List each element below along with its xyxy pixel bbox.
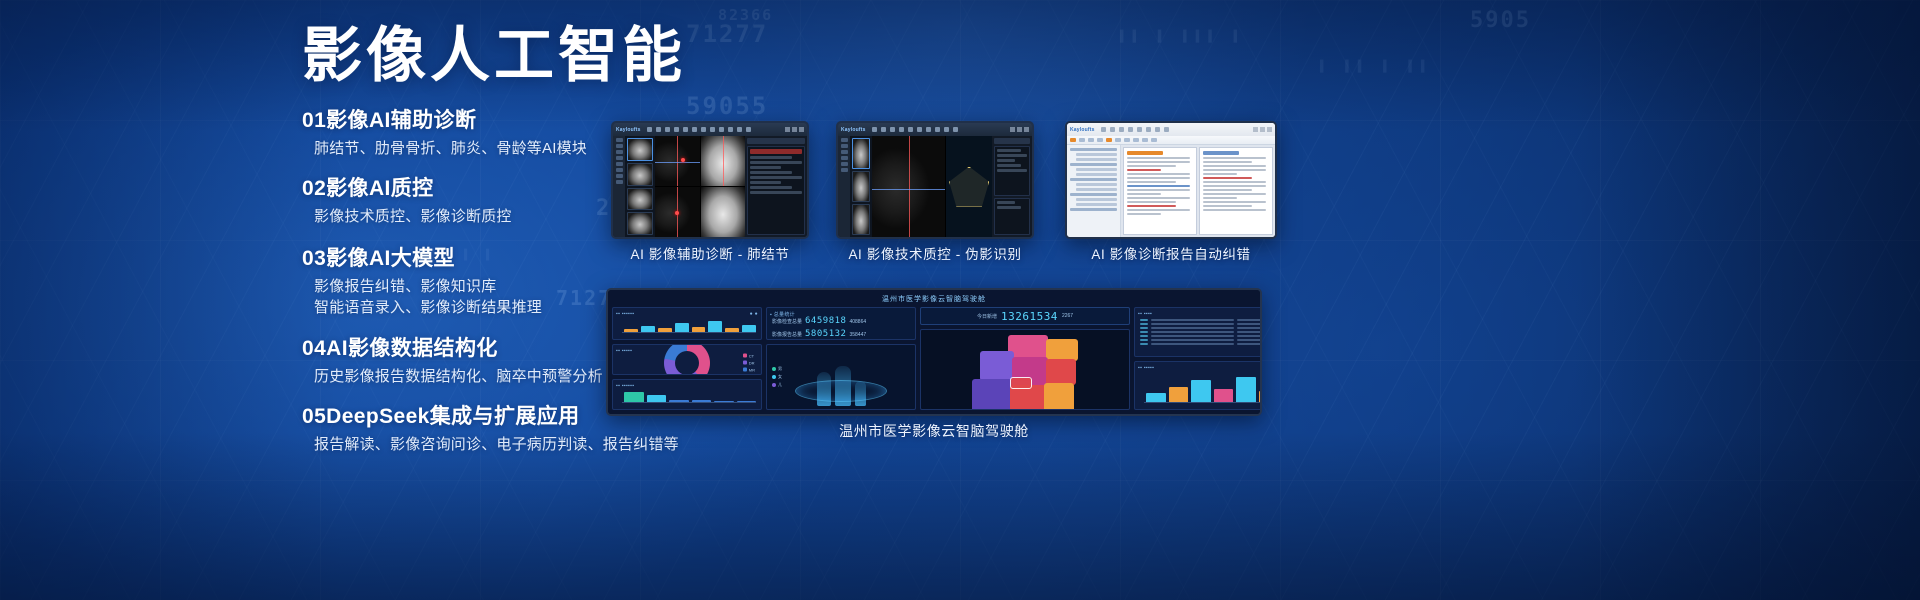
report-heading [1203, 151, 1239, 155]
viewer-body [838, 136, 1032, 237]
screenshot-report-correction[interactable]: Kayloufts [1065, 121, 1277, 239]
tree-node[interactable] [1076, 158, 1117, 161]
ct-image-axial[interactable] [655, 136, 700, 186]
window-controls[interactable] [1010, 127, 1029, 132]
card-ranking-table[interactable]: ▪▪ ▪▪▪▪ [1134, 307, 1262, 357]
kpi-delta: 408864 [849, 319, 866, 325]
legend-item: 儿 [772, 382, 782, 388]
qc-row[interactable] [997, 159, 1015, 162]
card-human-visualization[interactable]: 男 女 儿 [766, 344, 916, 410]
card-modality-donut[interactable]: ▪▪ ▪▪▪▪▪ CT DR MR [612, 344, 762, 375]
report-sidebar-tree[interactable] [1067, 145, 1121, 237]
bar [1146, 393, 1166, 402]
report-line [1203, 189, 1252, 191]
kpi-value: 6459818 [805, 316, 846, 326]
screenshot-caption: AI 影像诊断报告自动纠错 [1065, 243, 1277, 263]
table-row[interactable] [1140, 319, 1262, 321]
window-titlebar: Kayloufts [838, 123, 1032, 136]
report-line [1203, 209, 1266, 211]
ct-image-artifact[interactable] [872, 136, 945, 237]
tree-node[interactable] [1076, 183, 1117, 186]
tree-node[interactable] [1070, 193, 1117, 196]
image-viewport-grid[interactable] [655, 136, 745, 237]
tree-node[interactable] [1076, 168, 1117, 171]
screenshot-caption: AI 影像辅助诊断 - 肺结节 [611, 243, 809, 263]
report-heading [1127, 151, 1163, 155]
report-line [1203, 193, 1266, 195]
report-line [1203, 181, 1266, 183]
ct-image-sagittal[interactable] [701, 187, 746, 237]
kpi-label: 影像报告总量 [772, 331, 802, 338]
findings-row[interactable] [750, 161, 802, 164]
tree-node[interactable] [1076, 188, 1117, 191]
report-documents [1121, 145, 1275, 237]
legend-item: DR [743, 360, 755, 365]
screenshot-caption: 温州市医学影像云智脑驾驶舱 [606, 421, 1262, 441]
report-line [1203, 165, 1266, 167]
kpi-label: 影像检查总量 [772, 318, 802, 325]
report-line [1127, 197, 1190, 199]
toolbar-button[interactable] [1133, 138, 1139, 142]
findings-row[interactable] [750, 176, 802, 179]
card-region-map[interactable] [920, 329, 1130, 410]
bar-chart [1146, 373, 1262, 403]
report-line [1127, 165, 1176, 167]
report-line [1127, 177, 1190, 179]
window-titlebar: Kayloufts [1067, 123, 1275, 136]
kpi-label: 今日新增 [977, 313, 997, 320]
report-line [1127, 213, 1161, 215]
app-window: Kayloufts [1065, 121, 1277, 239]
toolbar-button[interactable] [1070, 138, 1076, 142]
card-body: 影像检查总量 6459818 408864 影像报告总量 5805132 358… [770, 318, 912, 336]
legend-item: CT [743, 353, 755, 358]
dashboard-title: 温州市医学影像云智脑驾驶舱 [612, 294, 1256, 304]
qc-result-panel[interactable] [992, 136, 1032, 237]
card-body [616, 317, 758, 336]
card-body [1138, 371, 1262, 407]
tool-rail[interactable] [838, 136, 850, 237]
map-region[interactable] [1046, 339, 1078, 361]
radar-chart [949, 167, 989, 207]
ct-image-coronal[interactable] [701, 136, 746, 186]
findings-row[interactable] [750, 166, 781, 169]
window-titlebar: Kayloufts [613, 123, 807, 136]
data-table[interactable] [1140, 319, 1262, 351]
card-body [1138, 317, 1262, 353]
map-region[interactable] [1046, 359, 1076, 385]
report-line [1127, 209, 1190, 211]
series-thumbnail[interactable] [852, 171, 870, 202]
crosshair-horizontal [655, 162, 700, 163]
legend-item: MR [743, 367, 755, 372]
legend-item: 女 [772, 374, 782, 380]
tree-node[interactable] [1070, 148, 1117, 151]
report-line-error [1203, 177, 1252, 179]
table-row[interactable] [1140, 331, 1262, 333]
toolbar-button[interactable] [1115, 138, 1121, 142]
card-kpi-totals[interactable]: ▪ 总量统计 影像检查总量 6459818 408864 影像报告总量 [766, 307, 916, 340]
report-line [1203, 157, 1266, 159]
bar [1169, 387, 1189, 402]
report-corrected[interactable] [1199, 147, 1273, 235]
findings-row[interactable] [750, 186, 792, 189]
map-region[interactable] [972, 379, 1012, 410]
qc-row[interactable] [997, 169, 1027, 172]
dashboard-column-3: 今日新增 13261534 2267 [920, 307, 1130, 410]
qc-analysis-view[interactable] [946, 136, 992, 237]
series-thumbnail[interactable] [852, 138, 870, 169]
bar [1259, 391, 1263, 402]
app-window: Kayloufts [611, 121, 809, 239]
toolbar-button[interactable] [1097, 138, 1103, 142]
findings-row[interactable] [750, 191, 802, 194]
table-row[interactable] [1140, 335, 1262, 337]
findings-row[interactable] [750, 156, 792, 159]
screenshot-dashboard[interactable]: 温州市医学影像云智脑驾驶舱 ▪▪ ▪▪▪▪▪▪● ● [606, 288, 1262, 416]
card-kpi-today[interactable]: 今日新增 13261534 2267 [920, 307, 1130, 325]
app-window: Kayloufts [836, 121, 1034, 239]
dashboard-grid: ▪▪ ▪▪▪▪▪▪● ● [612, 307, 1256, 410]
ct-image-lung-window[interactable] [655, 187, 700, 237]
menu-icons[interactable] [872, 127, 1010, 132]
series-thumbnail[interactable] [627, 163, 653, 186]
viewer-body [613, 136, 807, 237]
dashboard-column-1: ▪▪ ▪▪▪▪▪▪● ● [612, 307, 762, 410]
qc-result-list[interactable] [994, 146, 1030, 196]
tree-node[interactable] [1076, 173, 1117, 176]
report-line [1127, 173, 1190, 175]
bar [742, 325, 756, 332]
report-line [1127, 193, 1161, 195]
report-line-error [1127, 169, 1161, 171]
bar [647, 395, 667, 402]
series-thumbnail[interactable] [627, 212, 653, 235]
report-line [1203, 185, 1266, 187]
card-exam-trend[interactable]: ▪▪ ▪▪▪▪▪▪● ● [612, 307, 762, 340]
card-body: CT DR MR [616, 354, 758, 371]
dashboard-column-4: ▪▪ ▪▪▪▪ [1134, 307, 1262, 410]
dashboard: 温州市医学影像云智脑驾驶舱 ▪▪ ▪▪▪▪▪▪● ● [608, 290, 1260, 414]
app-logo: Kayloufts [616, 127, 641, 133]
chart-axis [1144, 402, 1262, 403]
qc-row[interactable] [997, 149, 1021, 152]
report-line [1127, 157, 1190, 159]
panel-header [994, 138, 1030, 144]
qc-row[interactable] [997, 206, 1021, 209]
card-dept-bars[interactable]: ▪▪ ▪▪▪▪▪▪ [612, 379, 762, 410]
report-line [1203, 173, 1237, 175]
series-thumbnail[interactable] [627, 138, 653, 161]
findings-row-highlight[interactable] [750, 149, 802, 154]
table-row[interactable] [1140, 327, 1262, 329]
chart-axis [622, 402, 756, 403]
map-region[interactable] [980, 351, 1014, 381]
table-row[interactable] [1140, 323, 1262, 325]
panel-header [747, 138, 805, 144]
nodule-marker [681, 158, 685, 162]
findings-list[interactable] [747, 146, 805, 235]
report-line [1127, 201, 1176, 203]
table-row[interactable] [1140, 343, 1262, 345]
report-line-error [1127, 205, 1176, 207]
report-line [1127, 161, 1190, 163]
series-thumbnail-list[interactable] [850, 136, 872, 237]
qc-row[interactable] [997, 201, 1015, 204]
card-mixed-chart[interactable]: ▪▪ ▪▪▪▪▪ [1134, 361, 1262, 411]
findings-panel[interactable] [745, 136, 807, 237]
tree-node[interactable] [1076, 153, 1117, 156]
report-line [1203, 197, 1237, 199]
nodule-marker [675, 211, 679, 215]
series-thumbnail[interactable] [852, 204, 870, 235]
screenshot-ai-qc[interactable]: Kayloufts [836, 121, 1034, 239]
findings-row[interactable] [750, 181, 781, 184]
glow-ring [795, 380, 887, 402]
image-viewport-grid[interactable] [872, 136, 992, 237]
report-line [1127, 189, 1190, 191]
card-body: 男 女 儿 [770, 348, 912, 406]
findings-row[interactable] [750, 171, 792, 174]
window-controls[interactable] [785, 127, 804, 132]
window-controls[interactable] [1253, 127, 1272, 132]
qc-row[interactable] [997, 154, 1027, 157]
bar [1236, 377, 1256, 402]
dashboard-column-2: ▪ 总量统计 影像检查总量 6459818 408864 影像报告总量 [766, 307, 916, 410]
report-body [1067, 145, 1275, 237]
screenshot-caption: AI 影像技术质控 - 伪影识别 [836, 243, 1034, 263]
bar-chart [624, 391, 756, 402]
menu-icons[interactable] [1101, 127, 1253, 132]
bar [1214, 389, 1234, 402]
donut-chart [664, 344, 710, 375]
bar [624, 392, 644, 402]
app-logo: Kayloufts [841, 127, 866, 133]
crosshair-vertical [723, 136, 724, 186]
kpi-delta: 2267 [1062, 313, 1073, 319]
toolbar-button[interactable] [1088, 138, 1094, 142]
report-original[interactable] [1123, 147, 1197, 235]
human-legend: 男 女 儿 [772, 366, 782, 388]
tree-node[interactable] [1070, 208, 1117, 211]
region-map[interactable] [950, 333, 1100, 406]
tree-node[interactable] [1076, 203, 1117, 206]
legend-item: 男 [772, 366, 782, 372]
toolbar-button[interactable] [1142, 138, 1148, 142]
app-logo: Kayloufts [1070, 127, 1095, 133]
report-line [1203, 169, 1266, 171]
crosshair-horizontal [872, 189, 945, 190]
bar [708, 321, 722, 332]
tool-rail[interactable] [613, 136, 625, 237]
kpi-value: 13261534 [1001, 310, 1058, 323]
table-row[interactable] [1140, 339, 1262, 341]
report-line [1203, 201, 1266, 203]
series-thumbnail[interactable] [627, 188, 653, 211]
crosshair-vertical [677, 136, 678, 186]
chart-axis [622, 332, 756, 333]
bar [675, 323, 689, 332]
toolbar-button[interactable] [1079, 138, 1085, 142]
toolbar-button[interactable] [1124, 138, 1130, 142]
report-line [1127, 181, 1176, 183]
kpi-delta: 358447 [849, 332, 866, 338]
map-region[interactable] [1044, 383, 1074, 410]
toolbar-button[interactable] [1151, 138, 1157, 142]
toolbar-ribbon[interactable] [1067, 136, 1275, 145]
kpi-value: 5805132 [805, 329, 846, 339]
tree-node[interactable] [1076, 198, 1117, 201]
crosshair-vertical [909, 136, 910, 237]
qc-score-block[interactable] [994, 198, 1030, 235]
tree-node[interactable] [1070, 163, 1117, 166]
menu-icons[interactable] [647, 127, 785, 132]
tree-node[interactable] [1070, 178, 1117, 181]
bar-chart [624, 319, 756, 332]
bar [1191, 380, 1211, 402]
report-line-suggestion [1127, 185, 1190, 187]
screenshot-ai-diagnosis[interactable]: Kayloufts [611, 121, 809, 239]
toolbar-button[interactable] [1106, 138, 1112, 142]
chart-legend: CT DR MR [743, 353, 755, 372]
app-window: 温州市医学影像云智脑驾驶舱 ▪▪ ▪▪▪▪▪▪● ● [606, 288, 1262, 416]
report-line [1203, 205, 1252, 207]
map-tooltip [1010, 377, 1032, 389]
card-body [616, 389, 758, 406]
page-title: 影像人工智能 [302, 22, 922, 89]
series-thumbnail-list[interactable] [625, 136, 655, 237]
report-line [1203, 161, 1252, 163]
qc-row[interactable] [997, 164, 1021, 167]
